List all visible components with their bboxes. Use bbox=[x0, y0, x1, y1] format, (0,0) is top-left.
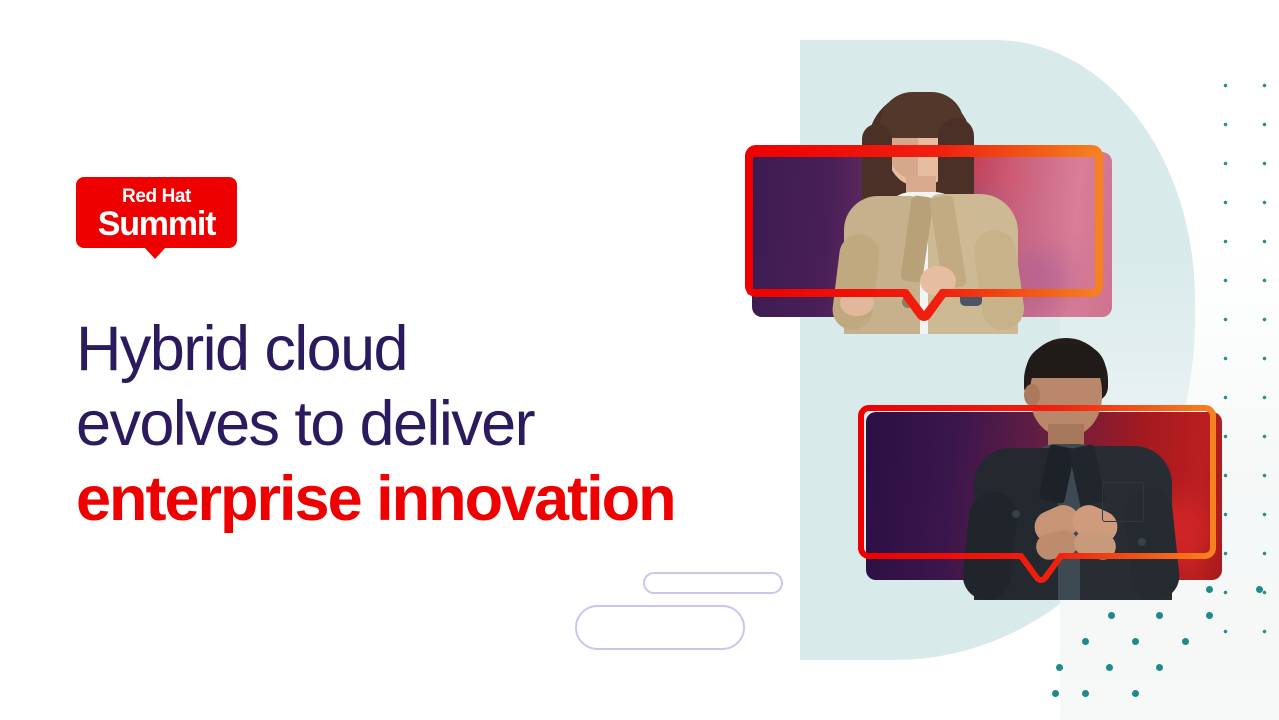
decor-dot bbox=[1082, 638, 1089, 645]
arm-right bbox=[1122, 486, 1181, 600]
decor-dot bbox=[1182, 638, 1189, 645]
hair-strand bbox=[938, 118, 974, 238]
hair-front bbox=[880, 92, 964, 138]
decor-dot bbox=[1156, 664, 1163, 671]
neck bbox=[906, 176, 936, 206]
decor-dot bbox=[1052, 690, 1059, 697]
logo-line-summit: Summit bbox=[98, 207, 215, 241]
headline-line-2: evolves to deliver bbox=[76, 387, 756, 462]
blazer-button bbox=[902, 296, 914, 308]
lapel bbox=[900, 195, 934, 283]
hero-text-column: Red Hat Summit Hybrid cloud evolves to d… bbox=[0, 0, 760, 720]
wristwatch bbox=[960, 290, 982, 306]
decor-dot bbox=[1106, 664, 1113, 671]
arm-left bbox=[960, 490, 1019, 600]
headline-line-1: Hybrid cloud bbox=[76, 312, 756, 387]
page-title: Hybrid cloud evolves to deliver enterpri… bbox=[76, 312, 756, 537]
dot-grid-corner bbox=[1052, 586, 1252, 716]
jacket bbox=[1080, 446, 1172, 600]
speaker-figure-bottom bbox=[866, 312, 1222, 600]
decor-dot bbox=[1132, 638, 1139, 645]
logo-line-red-hat: Red Hat bbox=[122, 187, 191, 206]
jacket-button bbox=[1138, 538, 1146, 546]
decor-dot bbox=[1056, 664, 1063, 671]
hair bbox=[1024, 338, 1108, 402]
face-shading bbox=[888, 114, 918, 180]
decor-dot bbox=[1108, 612, 1115, 619]
hair-strand bbox=[862, 124, 892, 236]
chest-pocket bbox=[1102, 482, 1144, 522]
neck bbox=[1048, 424, 1084, 458]
head bbox=[886, 100, 954, 186]
ear bbox=[1024, 384, 1040, 406]
head bbox=[1030, 348, 1102, 436]
hand-right bbox=[1067, 500, 1122, 548]
inner-tee bbox=[1026, 444, 1108, 600]
hand-right bbox=[920, 266, 956, 296]
hair-front bbox=[1026, 344, 1106, 378]
hand-left-lower bbox=[1034, 528, 1080, 562]
decor-dot bbox=[1256, 586, 1263, 593]
decor-dot bbox=[1132, 690, 1139, 697]
speaker-figure-top bbox=[752, 44, 1112, 334]
lapel bbox=[929, 195, 967, 290]
hand-right-lower bbox=[1072, 528, 1118, 562]
jacket bbox=[974, 448, 1058, 600]
slide-canvas: Red Hat Summit Hybrid cloud evolves to d… bbox=[0, 0, 1279, 720]
decor-dot bbox=[1156, 612, 1163, 619]
headline-line-3: enterprise innovation bbox=[76, 462, 756, 537]
jacket-button bbox=[1012, 510, 1020, 518]
collar bbox=[1038, 444, 1075, 504]
decor-dot bbox=[1082, 690, 1089, 697]
hand-left bbox=[1029, 500, 1084, 548]
decor-dot bbox=[1206, 612, 1213, 619]
collar bbox=[1068, 444, 1105, 506]
red-hat-summit-logo: Red Hat Summit bbox=[76, 177, 237, 248]
hair bbox=[868, 92, 972, 242]
